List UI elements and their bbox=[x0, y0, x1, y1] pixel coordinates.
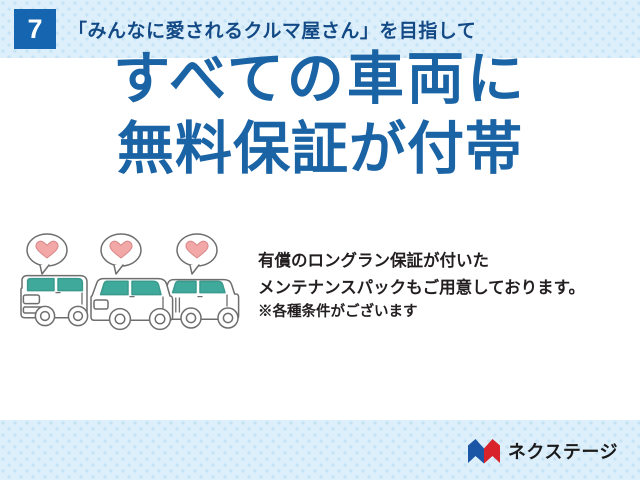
body-copy-line-1: 有償のロングラン保証が付いた bbox=[258, 248, 628, 275]
cars-with-hearts-illustration bbox=[16, 232, 240, 340]
illustration-svg bbox=[16, 232, 240, 340]
body-copy: 有償のロングラン保証が付いた メンテナンスパックもご用意しております。 ※各種条… bbox=[258, 248, 628, 325]
headline: すべての車両に 無料保証が付帯 bbox=[0, 44, 640, 184]
heart-bubble-1 bbox=[27, 234, 67, 274]
header-title: 「みんなに愛されるクルマ屋さん」を目指して bbox=[68, 16, 476, 43]
heart-bubble-3 bbox=[177, 234, 217, 274]
brand-logo: ネクステージ bbox=[467, 438, 618, 464]
body-copy-line-2: メンテナンスパックもご用意しております。 bbox=[258, 275, 628, 302]
header-row: 7 「みんなに愛されるクルマ屋さん」を目指して bbox=[0, 9, 476, 49]
brand-name: ネクステージ bbox=[508, 438, 618, 464]
body-copy-note: ※各種条件がございます bbox=[258, 301, 628, 324]
step-number-badge: 7 bbox=[14, 9, 56, 49]
car-box-van bbox=[21, 276, 88, 326]
headline-line-2: 無料保証が付帯 bbox=[0, 114, 640, 184]
car-minivan bbox=[91, 279, 173, 330]
headline-line-1: すべての車両に bbox=[0, 44, 640, 114]
promotional-banner: 7 「みんなに愛されるクルマ屋さん」を目指して すべての車両に 無料保証が付帯 bbox=[0, 0, 640, 480]
heart-bubble-2 bbox=[101, 234, 141, 274]
nextage-n-mark-icon bbox=[467, 438, 501, 464]
car-suv bbox=[163, 280, 239, 328]
